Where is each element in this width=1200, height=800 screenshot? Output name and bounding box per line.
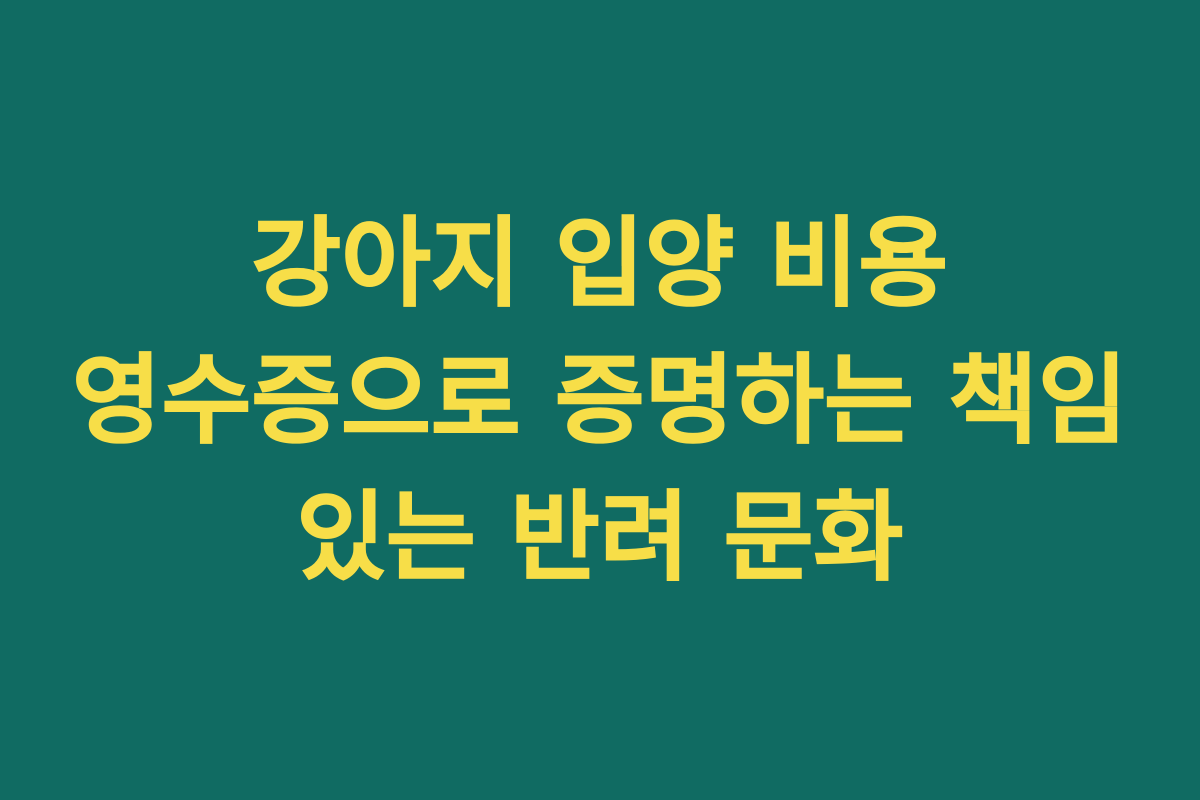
headline-banner: 강아지 입양 비용 영수증으로 증명하는 책임 있는 반려 문화	[0, 0, 1200, 800]
page-title: 강아지 입양 비용 영수증으로 증명하는 책임 있는 반려 문화	[70, 195, 1130, 606]
headline-text-block: 강아지 입양 비용 영수증으로 증명하는 책임 있는 반려 문화	[70, 195, 1130, 606]
